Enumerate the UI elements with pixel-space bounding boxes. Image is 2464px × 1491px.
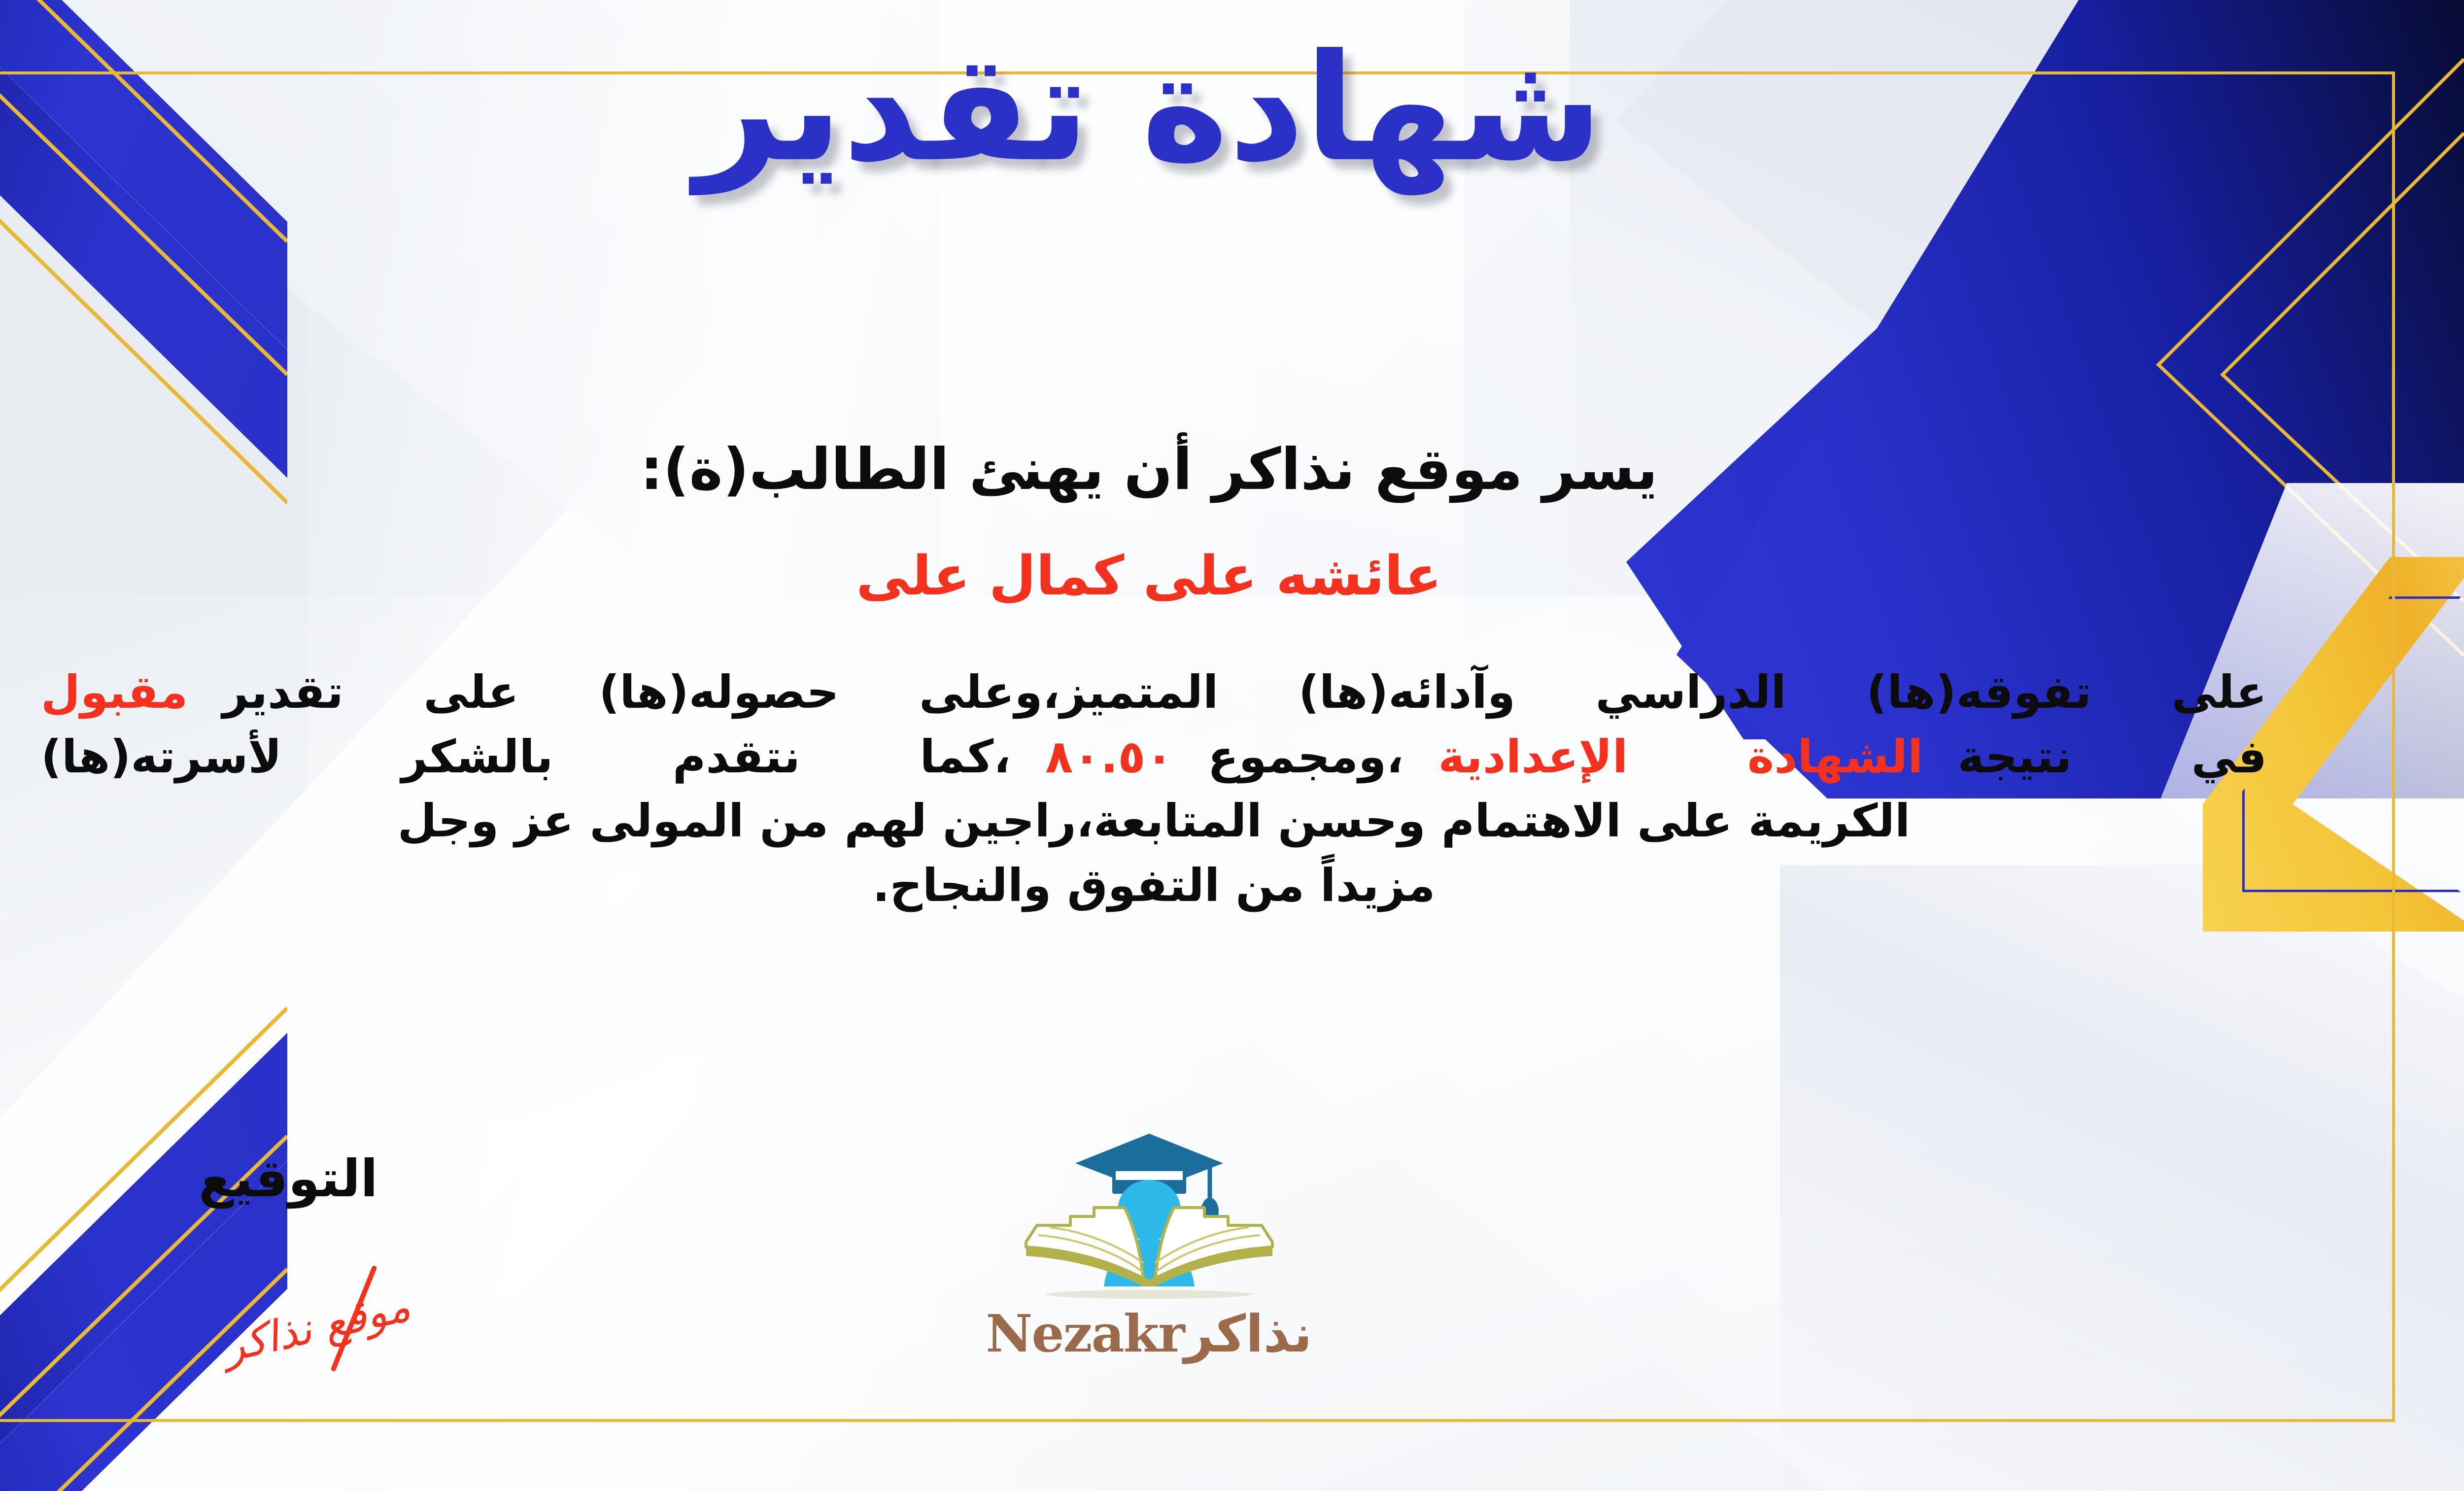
- body-line-2: في نتيجةالشهادة الإعدادية،ومجموع٨٠.٥٠،كم…: [41, 725, 2267, 790]
- page-title: شهادة تقدير: [0, 35, 2464, 182]
- logo-text-arabic: نذاكر: [1184, 1304, 1312, 1364]
- intro-line: يسر موقع نذاكر أن يهنئ الطالب(ة):: [0, 434, 2464, 505]
- body-line-4: مزيداً من التفوق والنجاح.: [41, 854, 2267, 918]
- body-line-1-text: على تفوقه(ها) الدراسي وآدائه(ها) المتميز…: [222, 666, 2267, 719]
- certificate-content: شهادة تقدير يسر موقع نذاكر أن يهنئ الطال…: [0, 0, 2464, 1491]
- body-line-3: الكريمة على الاهتمام وحسن المتابعة،راجين…: [41, 789, 2267, 854]
- signature-label: التوقيع: [199, 1148, 378, 1209]
- body-line-2-prefix: في نتيجة: [1957, 730, 2267, 783]
- body-line-1: على تفوقه(ها) الدراسي وآدائه(ها) المتميز…: [41, 660, 2267, 725]
- logo-wordmark: نذاكرNezakr: [942, 1308, 1356, 1359]
- grade-value: مقبول: [41, 666, 188, 719]
- student-name: عائشه على كمال على: [0, 542, 2464, 610]
- total-score: ٨٠.٥٠: [1045, 730, 1173, 783]
- exam-name: الشهادة الإعدادية: [1438, 730, 1923, 783]
- certificate-page: شهادة تقدير يسر موقع نذاكر أن يهنئ الطال…: [0, 0, 2464, 1491]
- body-paragraph: على تفوقه(ها) الدراسي وآدائه(ها) المتميز…: [41, 660, 2267, 918]
- logo-text-latin: Nezakr: [986, 1303, 1184, 1364]
- body-line-2-suffix: ،كما نتقدم بالشكر لأسرته(ها): [41, 730, 1011, 783]
- body-line-2-mid: ،ومجموع: [1208, 730, 1404, 783]
- signature-mark: موقع نذاكر: [218, 1282, 415, 1372]
- brand-logo: نذاكرNezakr: [942, 1129, 1356, 1359]
- graduate-book-icon: [1011, 1129, 1287, 1306]
